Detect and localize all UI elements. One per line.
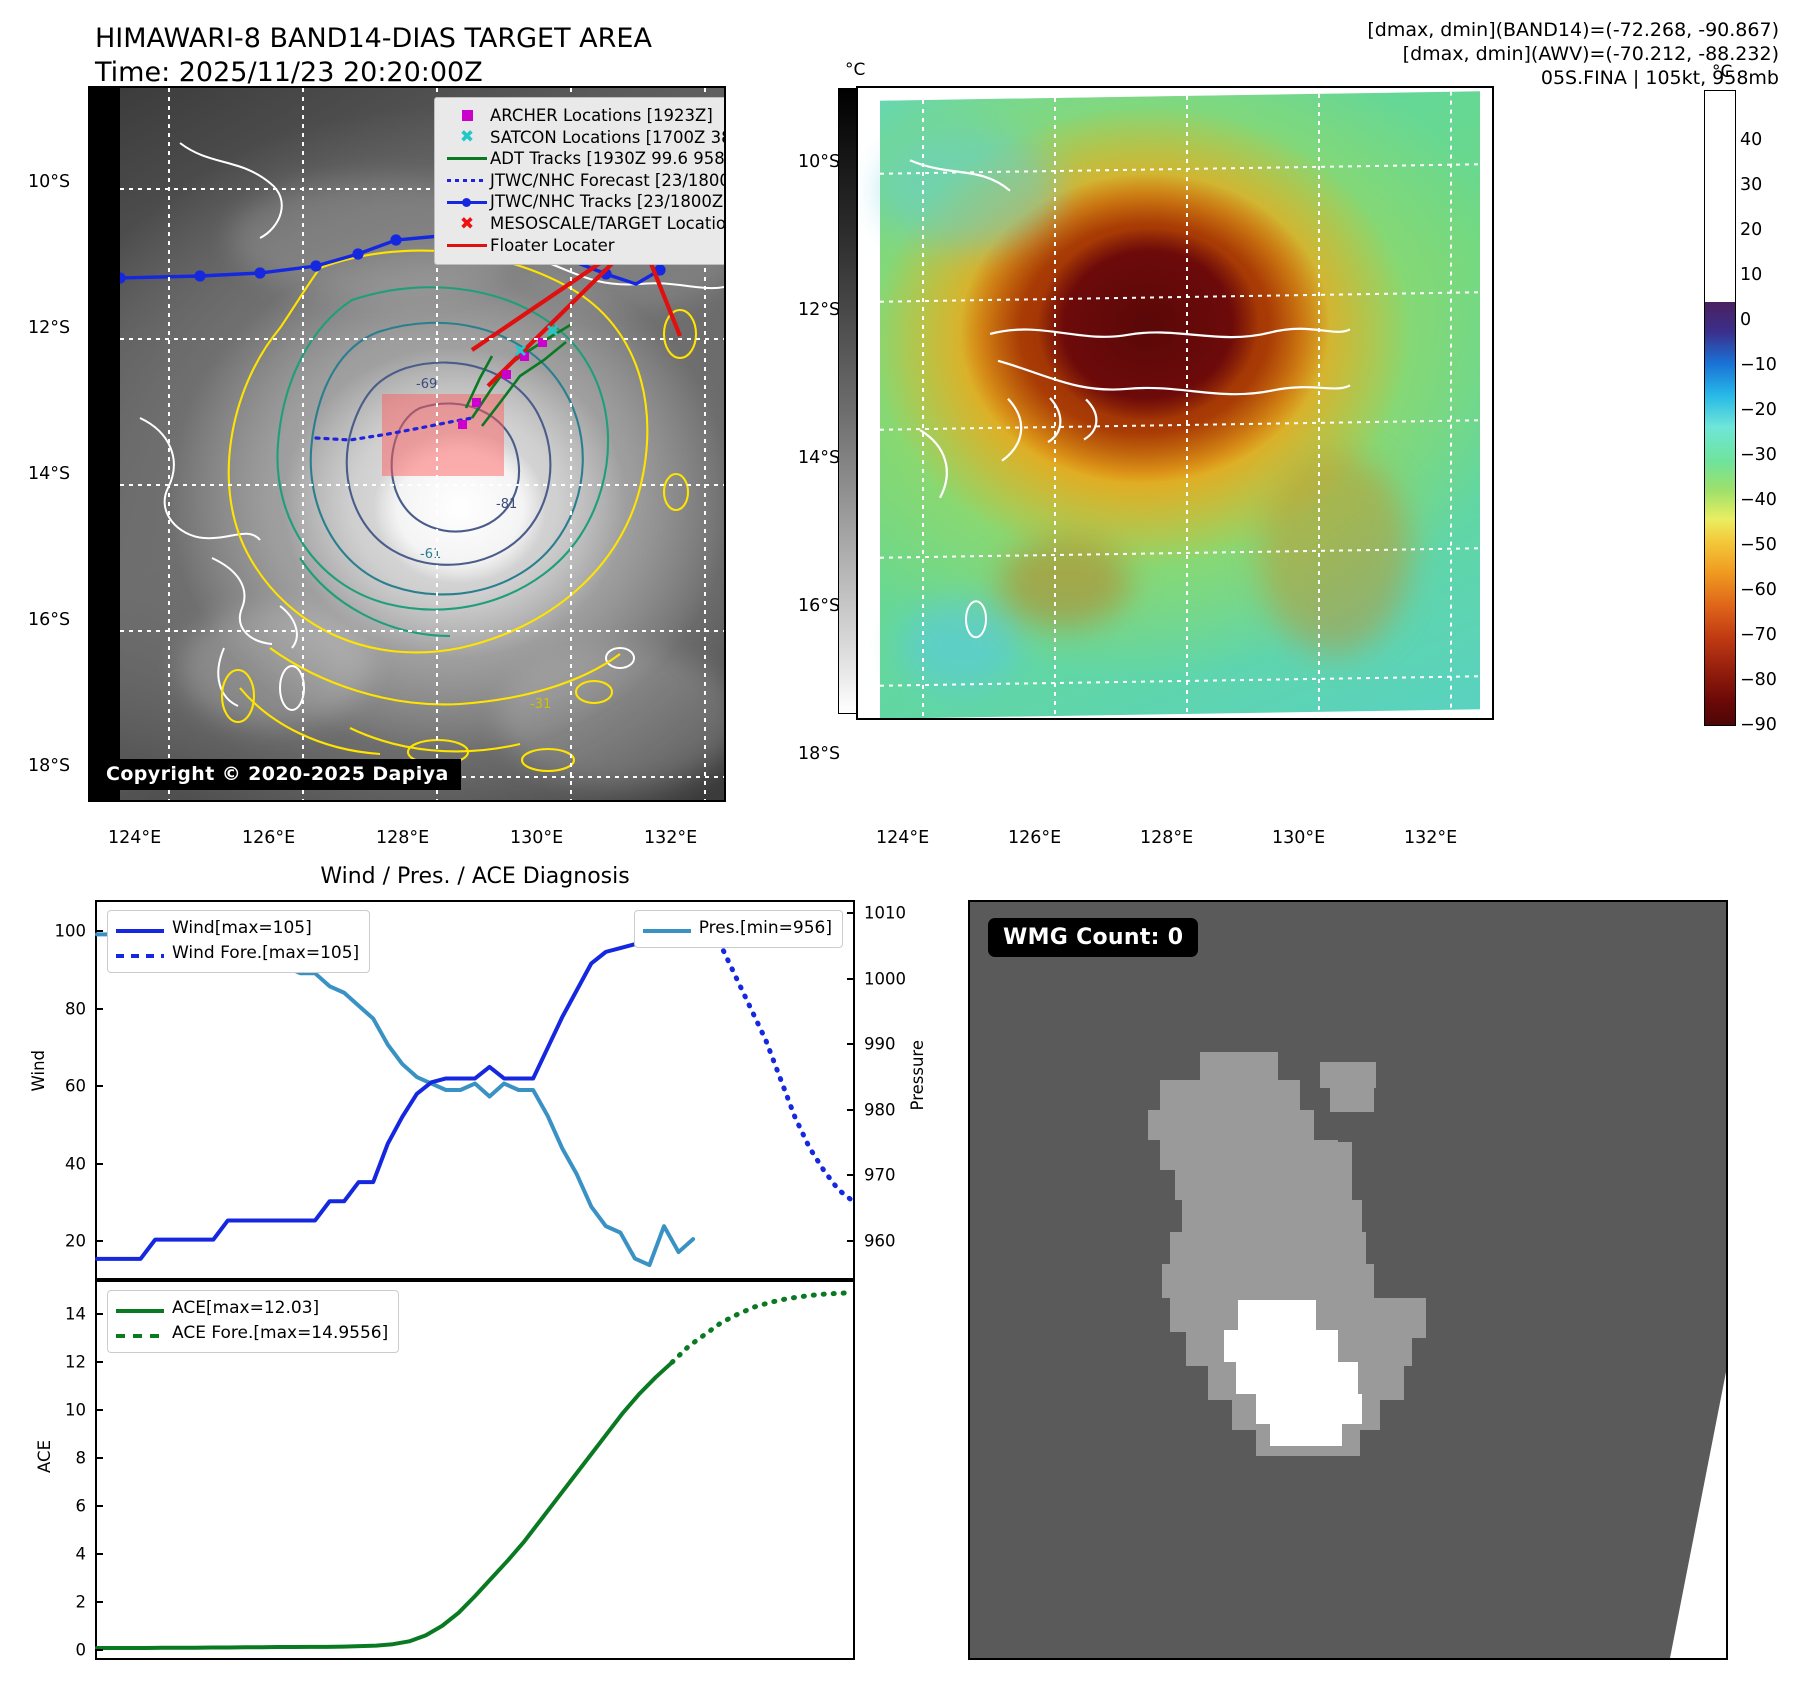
blue-dotted-line-icon (444, 179, 490, 182)
pressure-ytick: 1000 (855, 969, 906, 988)
green-line-icon (444, 157, 490, 160)
ace-y-label: ACE (35, 1440, 54, 1473)
legend-item-jtwc-forecast: JTWC/NHC Forecast [23/1800Z] (444, 170, 726, 192)
ace-legend: ACE[max=12.03] ACE Fore.[max=14.9556] (107, 1290, 399, 1353)
legend-item-jtwc-tracks: JTWC/NHC Tracks [23/1800Z] (444, 191, 726, 213)
ace-ytick: 6 (76, 1497, 96, 1516)
awv-coastline-overlay (880, 91, 1480, 718)
awv-imagery (880, 91, 1480, 718)
wind-y-label: Wind (29, 1050, 48, 1091)
ace-line-icon (116, 1296, 172, 1321)
pressure-ytick: 960 (855, 1231, 896, 1250)
legend-item-wind: Wind[max=105] (116, 916, 359, 941)
ir-map-legend: ARCHER Locations [1923Z] ✖ SATCON Locati… (434, 97, 726, 265)
awv-xtick-124e: 124°E (876, 828, 929, 848)
magenta-square-icon (444, 110, 490, 121)
pressure-y-label: Pressure (908, 1040, 927, 1110)
pressure-ytick: 970 (855, 1166, 896, 1185)
pressure-line-icon (643, 916, 699, 941)
ace-ytick: 8 (76, 1448, 96, 1467)
legend-item-wind-forecast: Wind Fore.[max=105] (116, 941, 359, 966)
title-line-1: HIMAWARI-8 BAND14-DIAS TARGET AREA (95, 23, 652, 54)
wind-forecast-line-icon (116, 941, 172, 966)
gridline (168, 88, 170, 802)
target-box (382, 394, 504, 476)
awv-xtick-126e: 126°E (1008, 828, 1061, 848)
awv-ytick-14s: 14°S (798, 448, 840, 468)
awv-xtick-132e: 132°E (1404, 828, 1457, 848)
svg-text:-81: -81 (496, 497, 517, 512)
awv-ytick-12s: 12°S (798, 300, 840, 320)
ace-forecast-line-icon (116, 1321, 172, 1346)
legend-item-mesoscale: ✖ MESOSCALE/TARGET Location (444, 213, 726, 235)
gridline (120, 338, 726, 340)
ir-xtick-124e: 124°E (108, 828, 161, 848)
ace-ytick: 10 (65, 1400, 95, 1419)
svg-text:-31: -31 (530, 697, 551, 712)
gridline (302, 88, 304, 802)
ir-xtick-132e: 132°E (644, 828, 697, 848)
legend-item-archer: ARCHER Locations [1923Z] (444, 105, 726, 127)
legend-item-adt: ADT Tracks [1930Z 99.6 958.1] (444, 148, 726, 170)
pressure-ytick: 990 (855, 1035, 896, 1054)
title-line-2: Time: 2025/11/23 20:20:00Z (95, 57, 483, 88)
awv-satellite-map[interactable] (856, 86, 1494, 720)
ace-chart[interactable]: ACE 02468101214 ACE[max=12.03] ACE Fore.… (95, 1280, 855, 1660)
awv-ytick-18s: 18°S (798, 744, 840, 764)
gridline (120, 484, 726, 486)
awv-xtick-128e: 128°E (1140, 828, 1193, 848)
ace-ytick: 12 (65, 1352, 95, 1371)
wind-ytick: 100 (55, 922, 96, 941)
ace-ytick: 2 (76, 1593, 96, 1612)
awv-colorbar-unit: °C (1712, 62, 1732, 82)
wind-ytick: 60 (65, 1077, 95, 1096)
chart-title: Wind / Pres. / ACE Diagnosis (0, 864, 950, 889)
storm-summary: 05S.FINA | 105kt, 958mb (1541, 67, 1779, 89)
awv-xtick-130e: 130°E (1272, 828, 1325, 848)
pressure-legend: Pres.[min=956] (634, 910, 843, 948)
ace-ytick: 0 (76, 1641, 96, 1660)
legend-item-floater: Floater Locater (444, 235, 726, 257)
wmg-imagery (970, 902, 1726, 1658)
awv-ytick-16s: 16°S (798, 596, 840, 616)
ace-ytick: 14 (65, 1304, 95, 1323)
ir-ytick-18s: 18°S (28, 756, 70, 776)
awv-colorbar-ticks: 40 30 20 10 0 −10 −20 −30 −40 −50 −60 −7… (1740, 90, 1797, 724)
legend-item-satcon: ✖ SATCON Locations [1700Z 38 1000] (444, 127, 726, 149)
gridline (120, 630, 726, 632)
red-line-icon (444, 244, 490, 247)
legend-item-ace-forecast: ACE Fore.[max=14.9556] (116, 1321, 388, 1346)
wind-ytick: 40 (65, 1154, 95, 1173)
dmax-dmin-band14: [dmax, dmin](BAND14)=(-72.268, -90.867) (1367, 19, 1779, 41)
cyan-x-icon: ✖ (444, 132, 490, 142)
ir-ytick-10s: 10°S (28, 172, 70, 192)
ir-ytick-14s: 14°S (28, 464, 70, 484)
blue-track-icon (444, 201, 490, 204)
wind-line-icon (116, 916, 172, 941)
copyright-notice: Copyright © 2020-2025 Dapiya (96, 759, 461, 790)
ir-satellite-map[interactable]: -69 -81 -61 -31 (88, 86, 726, 802)
wmg-panel[interactable]: WMG Count: 0 (968, 900, 1728, 1660)
pressure-ytick: 980 (855, 1100, 896, 1119)
wind-legend: Wind[max=105] Wind Fore.[max=105] (107, 910, 370, 973)
wind-ytick: 20 (65, 1232, 95, 1251)
svg-text:-61: -61 (420, 547, 441, 562)
svg-text:-69: -69 (416, 377, 437, 392)
ir-ytick-12s: 12°S (28, 318, 70, 338)
legend-item-ace: ACE[max=12.03] (116, 1296, 388, 1321)
awv-colorbar (1704, 90, 1736, 726)
awv-ytick-10s: 10°S (798, 152, 840, 172)
ir-ytick-16s: 16°S (28, 610, 70, 630)
ir-xtick-126e: 126°E (242, 828, 295, 848)
ir-xtick-130e: 130°E (510, 828, 563, 848)
red-x-icon: ✖ (444, 219, 490, 229)
legend-item-pressure: Pres.[min=956] (643, 916, 832, 941)
wind-ytick: 80 (65, 999, 95, 1018)
ace-ytick: 4 (76, 1545, 96, 1564)
ir-colorbar-unit: °C (845, 60, 865, 80)
wmg-count-badge: WMG Count: 0 (988, 918, 1198, 957)
pressure-ytick: 1010 (855, 904, 906, 923)
wind-pressure-chart[interactable]: Wind Pressure 20406080100 96097098099010… (95, 900, 855, 1280)
page-title: HIMAWARI-8 BAND14-DIAS TARGET AREA Time:… (95, 22, 652, 90)
ir-xtick-128e: 128°E (376, 828, 429, 848)
